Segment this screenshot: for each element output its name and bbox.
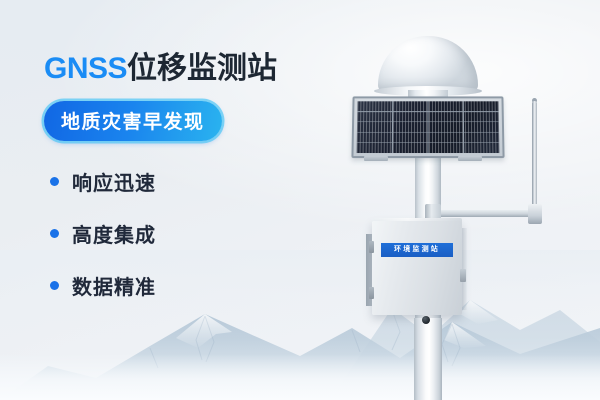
solar-panel-glass xyxy=(357,101,500,153)
cabinet-label: 环境监测站 xyxy=(381,243,453,257)
list-item: 数据精准 xyxy=(50,271,344,300)
mounting-arm xyxy=(432,210,536,217)
page-title: GNSS位移监测站 xyxy=(44,52,344,85)
arm-antenna-bracket xyxy=(528,204,542,224)
feature-list: 响应迅速 高度集成 数据精准 xyxy=(50,167,344,300)
cabinet-hinge-bottom xyxy=(369,287,374,299)
whip-antenna xyxy=(532,101,537,209)
cabinet-hinge-top xyxy=(369,241,374,253)
cabinet-latch xyxy=(460,269,466,282)
headline-en: GNSS xyxy=(44,52,127,85)
solar-panel-brace-right xyxy=(458,156,482,161)
feature-label: 响应迅速 xyxy=(72,167,156,196)
bullet-dot-icon xyxy=(50,177,59,186)
gnss-dome-antenna-icon xyxy=(378,36,478,92)
text-content-block: GNSS位移监测站 地质灾害早发现 响应迅速 高度集成 数据精准 xyxy=(44,52,344,323)
solar-panel-brace-left xyxy=(364,156,388,161)
mounting-pole-lower xyxy=(414,318,442,400)
solar-panel-cell-rows xyxy=(357,101,500,153)
pole-cable-port xyxy=(422,316,430,324)
feature-label: 高度集成 xyxy=(72,219,156,248)
feature-label: 数据精准 xyxy=(72,271,156,300)
instrument-cabinet: 环境监测站 xyxy=(372,221,462,315)
bullet-dot-icon xyxy=(50,229,59,238)
promo-banner: 环境监测站 GNSS位移监测站 地质灾害早发现 响应迅速 高度集成 数据精准 xyxy=(0,0,600,400)
solar-panel xyxy=(351,96,504,158)
list-item: 响应迅速 xyxy=(50,167,344,196)
list-item: 高度集成 xyxy=(50,219,344,248)
bullet-dot-icon xyxy=(50,281,59,290)
headline-cn: 位移监测站 xyxy=(127,52,277,85)
tagline-badge: 地质灾害早发现 xyxy=(44,101,222,141)
gnss-monitoring-station-device: 环境监测站 xyxy=(330,28,600,400)
